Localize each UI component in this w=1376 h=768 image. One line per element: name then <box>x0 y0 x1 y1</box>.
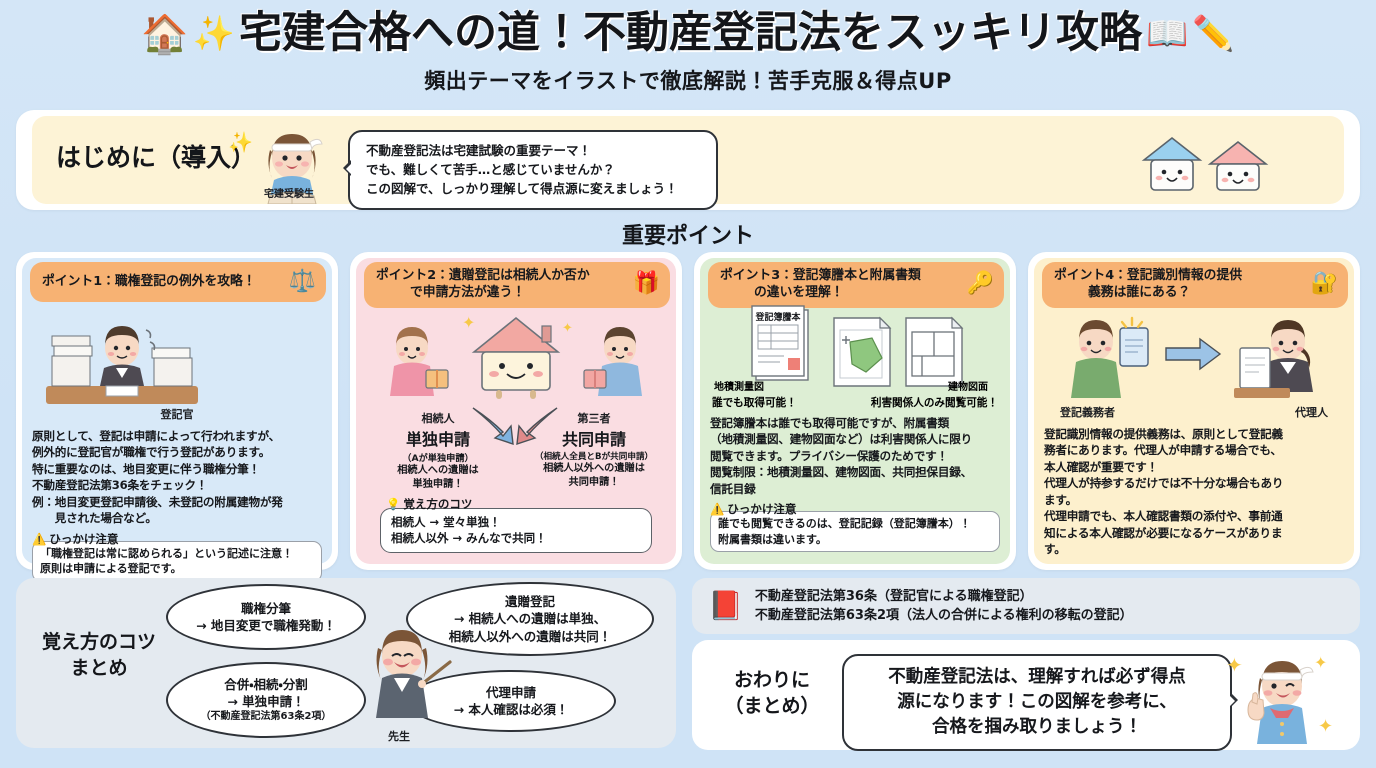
point-3-warning-label: ひっかけ注意 <box>727 501 796 517</box>
intro-line-3: この図解で、しっかり理解して得点源に変えましょう！ <box>366 180 700 199</box>
point-card-4-body: ポイント4：登記識別情報の提供 義務は誰にある？ 🔐 <box>1034 258 1354 564</box>
memory-bubble-1: 職権分筆 → 地目変更で職権発動！ <box>166 584 366 650</box>
svg-text:✦: ✦ <box>462 313 475 332</box>
page-header: 🏠 ✨ 宅建合格への道！不動産登記法をスッキリ攻略 📖 ✏️ 頻出テーマをイラス… <box>0 0 1376 95</box>
svg-text:✦: ✦ <box>1318 716 1333 737</box>
point-3-warning: ⚠️ ひっかけ注意 誰でも閲覧できるのは、登記記録（登記簿謄本）！ 附属書類は違… <box>710 501 1000 552</box>
lock-key-icon: 🔐 <box>1311 273 1338 295</box>
intro-section: はじめに（導入） ✨ <box>16 110 1360 210</box>
point-1-warning-label: ひっかけ注意 <box>49 531 118 547</box>
memory-bubble-2: 合併・相続・分割 → 単独申請！ （不動産登記法第63条2項） <box>166 662 366 738</box>
point-2-title-line1: ポイント2：遺贈登記は相続人か否か <box>376 268 590 283</box>
closing-bubble-text: 不動産登記法は、理解すれば必ず得点 源になります！この図解を参考に、 合格を掴み… <box>858 665 1216 740</box>
point-4-left-role: 登記義務者 <box>1060 404 1115 420</box>
point-3-title-line2: の違いを理解！ <box>720 284 921 301</box>
intro-line-1: 不動産登記法は宅建試験の重要テーマ！ <box>366 142 700 161</box>
point-3-illustration: 登記簿謄本 <box>710 300 1000 410</box>
point-4-title: ポイント4：登記識別情報の提供 義務は誰にある？ <box>1054 267 1242 302</box>
warning-icon: ⚠️ <box>710 502 724 516</box>
point-4-illustration: 登記義務者 代理人 <box>1044 302 1344 420</box>
point-4-right-role: 代理人 <box>1295 404 1328 420</box>
teacher-caption: 先生 <box>364 728 434 744</box>
point-1-figure-caption: 登記官 <box>32 406 322 422</box>
intro-label: はじめに（導入） <box>56 138 256 174</box>
house-pair-illustration <box>1134 128 1284 202</box>
point-card-2: ポイント2：遺贈登記は相続人か否か で申請方法が違う！ 🎁 <box>350 252 682 570</box>
point-1-warning-body: 「職権登記は常に認められる」という記述に注意！ 原則は申請による登記です。 <box>32 541 322 582</box>
point-3-caption-left: 誰でも取得可能！ <box>712 395 797 410</box>
sparkles-icon: ✨ <box>193 17 235 51</box>
infographic-page: 🏠 ✨ 宅建合格への道！不動産登記法をスッキリ攻略 📖 ✏️ 頻出テーマをイラス… <box>0 0 1376 768</box>
point-3-title: ポイント3：登記簿謄本と附属書類 の違いを理解！ <box>720 267 921 302</box>
point-3-warning-body: 誰でも閲覧できるのは、登記記録（登記簿謄本）！ 附属書類は違います。 <box>710 511 1000 552</box>
point-card-4: ポイント4：登記識別情報の提供 義務は誰にある？ 🔐 <box>1028 252 1360 570</box>
svg-text:✦: ✦ <box>1226 653 1243 677</box>
point-3-title-line1: ポイント3：登記簿謄本と附属書類 <box>720 268 921 283</box>
lightbulb-icon: 💡 <box>386 497 400 511</box>
point-card-1: ポイント1：職権登記の例外を攻略！ ⚖️ <box>16 252 338 570</box>
point-2-title-line2: で申請方法が違う！ <box>376 284 590 301</box>
arrow-pair-icon <box>461 404 571 448</box>
point-2-right-sub: （相続人全員とBが共同申請） <box>522 450 666 462</box>
point-4-title-line2: 義務は誰にある？ <box>1054 284 1242 301</box>
house-icon: 🏠 <box>141 15 188 53</box>
law-reference-panel: 📕 不動産登記法第36条（登記官による職権登記） 不動産登記法第63条2項（法人… <box>692 578 1360 634</box>
memory-tips-panel: 覚え方のコツ まとめ 職権分筆 → 地目変更で職権発動！ 合併・相続・分割 → … <box>16 578 676 748</box>
title-row: 🏠 ✨ 宅建合格への道！不動産登記法をスッキリ攻略 📖 ✏️ <box>0 12 1376 55</box>
point-2-badge: ポイント2：遺贈登記は相続人か否か で申請方法が違う！ 🎁 <box>364 262 670 308</box>
point-2-left-note: 相続人への遺贈は 単独申請！ <box>366 464 510 492</box>
point-card-1-body: ポイント1：職権登記の例外を攻略！ ⚖️ <box>22 258 332 564</box>
svg-text:登記簿謄本: 登記簿謄本 <box>754 311 801 323</box>
key-eye-icon: 🔑 <box>967 273 994 295</box>
page-subtitle: 頻出テーマをイラストで徹底解説！苦手克服＆得点UP <box>0 65 1376 95</box>
intro-panel: はじめに（導入） ✨ <box>32 116 1344 204</box>
point-3-body: 登記簿謄本は誰でも取得可能ですが、附属書類 （地積測量図、建物図面など）は利害関… <box>710 415 1000 497</box>
points-row: ポイント1：職権登記の例外を攻略！ ⚖️ <box>16 252 1360 570</box>
page-title: 宅建合格への道！不動産登記法をスッキリ攻略 <box>239 12 1142 55</box>
law-book-icon: 📕 <box>708 592 743 620</box>
memory-bubble-2-sub: （不動産登記法第63条2項） <box>201 710 332 724</box>
point-2-left-sub: （Aが単独申請） <box>366 450 510 464</box>
point-2-illustration: ✦ ✦ <box>366 304 666 408</box>
memory-bubble-2-main: 合併・相続・分割 → 単独申請！ <box>224 677 308 709</box>
land-survey-map-icon <box>828 312 894 392</box>
point-1-illustration: 登記官 <box>32 310 322 422</box>
teacher-illustration <box>354 612 460 732</box>
point-3-doc3-label: 建物図面 <box>948 378 996 393</box>
point-1-body: 原則として、登記は申請によって行われますが、 例外的に登記官が職権で行う登記があ… <box>32 428 322 527</box>
warning-icon: ⚠️ <box>32 532 46 546</box>
point-2-tip-body: 相続人 → 堂々単独！ 相続人以外 → みんなで共同！ <box>380 508 652 553</box>
gift-icon: 🎁 <box>633 273 660 295</box>
point-2-tip-label: 覚え方のコツ <box>403 496 472 512</box>
open-book-icon: 📖 <box>1146 17 1188 51</box>
point-card-3: ポイント3：登記簿謄本と附属書類 の違いを理解！ 🔑 登記簿謄本 <box>694 252 1016 570</box>
intro-speech-bubble: 不動産登記法は宅建試験の重要テーマ！ でも、難しくて苦手…と感じていませんか？ … <box>348 130 718 210</box>
point-2-title: ポイント2：遺贈登記は相続人か否か で申請方法が違う！ <box>376 267 590 302</box>
closing-label: おわりに （まとめ） <box>712 668 832 719</box>
closing-speech-bubble: 不動産登記法は、理解すれば必ず得点 源になります！この図解を参考に、 合格を掴み… <box>842 654 1232 751</box>
point-1-warning: ⚠️ ひっかけ注意 「職権登記は常に認められる」という記述に注意！ 原則は申請に… <box>32 531 322 582</box>
point-3-caption-right: 利害関係人のみ閲覧可能！ <box>871 395 998 410</box>
pencil-icon: ✏️ <box>1192 17 1234 51</box>
point-1-title: ポイント1：職権登記の例外を攻略！ <box>42 273 256 290</box>
section-heading: 重要ポイント <box>0 218 1376 250</box>
point-4-body: 登記識別情報の提供義務は、原則として登記義 務者にあります。代理人が申請する場合… <box>1044 426 1344 558</box>
point-2-right-note: 相続人以外への遺贈は 共同申請！ <box>522 462 666 490</box>
intro-line-2: でも、難しくて苦手…と感じていませんか？ <box>366 161 700 180</box>
point-card-3-body: ポイント3：登記簿謄本と附属書類 の違いを理解！ 🔑 登記簿謄本 <box>700 258 1010 564</box>
memory-tips-label: 覚え方のコツ まとめ <box>34 630 164 681</box>
svg-text:✦: ✦ <box>562 321 573 336</box>
point-1-badge: ポイント1：職権登記の例外を攻略！ ⚖️ <box>30 262 326 302</box>
point-3-doc2-label: 地積測量図 <box>714 378 764 393</box>
student-caption: 宅建受験生 <box>264 185 314 200</box>
law-reference-text: 不動産登記法第36条（登記官による職権登記） 不動産登記法第63条2項（法人の合… <box>755 587 1133 626</box>
point-card-2-body: ポイント2：遺贈登記は相続人か否か で申請方法が違う！ 🎁 <box>356 258 676 564</box>
closing-student-illustration: ✦ ✦ ✦ <box>1222 646 1338 746</box>
svg-text:✦: ✦ <box>1314 653 1327 672</box>
closing-panel: おわりに （まとめ） 不動産登記法は、理解すれば必ず得点 源になります！この図解… <box>692 640 1360 750</box>
point-4-title-line1: ポイント4：登記識別情報の提供 <box>1054 268 1242 283</box>
gavel-icon: ⚖️ <box>289 271 316 293</box>
point-4-badge: ポイント4：登記識別情報の提供 義務は誰にある？ 🔐 <box>1042 262 1348 308</box>
